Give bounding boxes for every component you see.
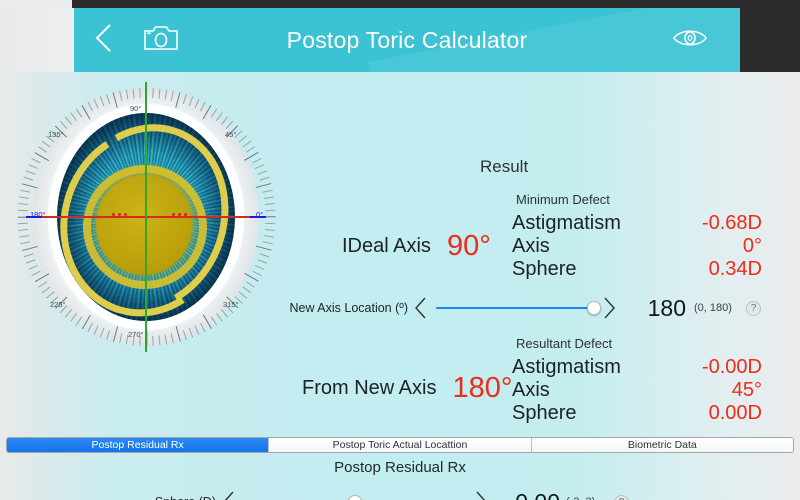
ideal-axis-readout: IDeal Axis 90° [342,230,491,263]
min-axis-value: 0° [743,235,762,258]
degree-label-270: 270° [128,330,144,339]
back-button[interactable] [80,8,128,72]
eye-protractor-diagram[interactable]: 90° 135° 45° 225° 315° 270° 180° 0° [20,82,272,352]
camera-button[interactable] [132,8,190,72]
ideal-axis-value: 90° [447,230,491,263]
sphere-value: 0.00 [498,489,560,500]
window-top-strip [0,0,800,8]
result-heading: Result [480,157,528,177]
new-axis-decrement-button[interactable] [408,296,434,320]
main-stage: 90° 135° 45° 225° 315° 270° 180° 0° Resu… [0,72,800,500]
sphere-slider[interactable] [244,492,466,500]
table-row: Axis 45° [512,379,762,402]
slider-thumb[interactable] [587,301,601,315]
vertical-axis-line [145,82,147,352]
table-row: Sphere 0.00D [512,402,762,425]
min-axis-label: Axis [512,235,550,258]
tab-biometric-data[interactable]: Biometric Data [532,438,793,452]
tab-postop-toric-actual-location[interactable]: Postop Toric Actual Locattion [269,438,531,452]
table-row: Astigmatism -0.00D [512,356,762,379]
table-row: Axis 0° [512,235,762,258]
sphere-range: (-3, 3) [566,496,612,500]
degree-label-0: 0° [256,210,263,219]
slider-thumb[interactable] [348,495,362,500]
ideal-axis-label: IDeal Axis [342,235,431,258]
tab-bar: Postop Residual Rx Postop Toric Actual L… [6,437,794,453]
res-sphere-label: Sphere [512,402,577,425]
sphere-increment-button[interactable] [468,490,494,500]
new-axis-location-label: New Axis Location (º) [282,301,408,315]
table-row: Astigmatism -0.68D [512,212,762,235]
degree-label-90: 90° [130,104,141,113]
new-axis-value: 180 [628,295,686,322]
question-mark-icon[interactable]: ? [614,495,629,500]
camera-icon [143,23,179,58]
header-left-gutter [0,8,74,72]
minimum-defect-table: Astigmatism -0.68D Axis 0° Sphere 0.34D [512,212,762,281]
eye-view-button[interactable] [660,8,720,72]
eye-icon [673,27,707,54]
sphere-decrement-button[interactable] [216,490,242,500]
resultant-defect-heading: Resultant Defect [516,336,612,351]
degree-label-135: 135° [48,130,64,139]
new-axis-slider[interactable] [436,298,594,318]
min-astigmatism-value: -0.68D [702,212,762,235]
res-axis-label: Axis [512,379,550,402]
minimum-defect-heading: Minimum Defect [516,192,610,207]
header-right-gutter [740,8,800,72]
panel-heading: Postop Residual Rx [0,459,800,476]
slider-fill [436,307,594,310]
degree-label-180: 180° [30,210,46,219]
from-new-axis-value: 180° [452,372,512,405]
from-new-axis-label: From New Axis [302,377,436,400]
res-axis-value: 45° [732,379,762,402]
min-sphere-label: Sphere [512,258,577,281]
new-axis-location-row: New Axis Location (º) 180 (0, 180) ? [282,296,761,320]
degree-label-315: 315° [223,300,239,309]
sphere-row: Sphere (D) 0.00 (-3, 3) ? [88,490,629,500]
question-mark-icon[interactable]: ? [746,301,761,316]
tab-postop-residual-rx[interactable]: Postop Residual Rx [7,438,269,452]
axis-dots-left [112,213,127,216]
res-astigmatism-value: -0.00D [702,356,762,379]
sphere-label: Sphere (D) [88,495,216,500]
min-astigmatism-label: Astigmatism [512,212,621,235]
from-new-axis-readout: From New Axis 180° [302,372,512,405]
res-sphere-value: 0.00D [709,402,762,425]
chevron-left-icon [94,22,114,59]
resultant-defect-table: Astigmatism -0.00D Axis 45° Sphere 0.00D [512,356,762,425]
axis-dots-right [172,213,187,216]
new-axis-range: (0, 180) [694,302,740,314]
table-row: Sphere 0.34D [512,258,762,281]
app-header: Postop Toric Calculator [74,8,740,72]
degree-label-225: 225° [50,300,66,309]
degree-label-45: 45° [225,130,236,139]
min-sphere-value: 0.34D [709,258,762,281]
res-astigmatism-label: Astigmatism [512,356,621,379]
